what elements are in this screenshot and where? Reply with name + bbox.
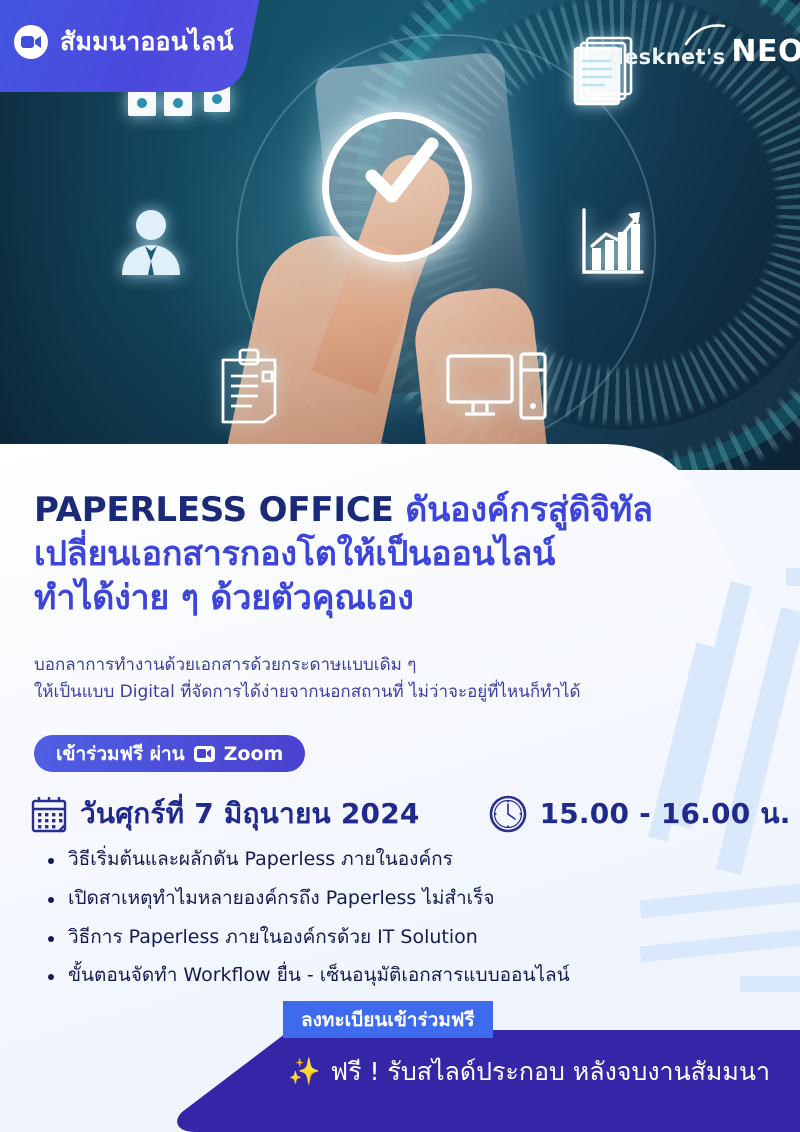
subtitle: บอกลาการทำงานด้วยเอกสารด้วยกระดาษแบบเดิม… bbox=[34, 652, 580, 706]
cta-offer: ✨ ฟรี ! รับสไลด์ประกอบ หลังจบงานสัมมนา bbox=[288, 1052, 770, 1092]
subtitle-line-1: บอกลาการทำงานด้วยเอกสารด้วยกระดาษแบบเดิม… bbox=[34, 652, 580, 679]
event-date: วันศุกร์ที่ 7 มิถุนายน 2024 bbox=[80, 792, 420, 836]
clock-icon bbox=[488, 794, 528, 834]
register-button[interactable]: ลงทะเบียนเข้าร่วมฟรี bbox=[283, 1001, 493, 1038]
datetime-row: วันศุกร์ที่ 7 มิถุนายน 2024 15.00 - bbox=[30, 792, 791, 836]
list-item: ขั้นตอนจัดทำ Workflow ยื่น - เซ็นอนุมัติ… bbox=[42, 964, 570, 988]
brand-swoosh-icon bbox=[684, 24, 726, 46]
checkmark-glyph bbox=[352, 126, 448, 222]
calendar-icon bbox=[30, 794, 68, 834]
brand-logo: desknet's NEO bbox=[609, 34, 800, 69]
zoom-badge-suffix: Zoom bbox=[224, 743, 284, 765]
register-button-label: ลงทะเบียนเข้าร่วมฟรี bbox=[301, 1005, 475, 1035]
sparkles-icon: ✨ bbox=[288, 1059, 320, 1085]
bar-chart-growth-icon bbox=[578, 204, 646, 280]
zoom-badge-prefix: เข้าร่วมฟรี ผ่าน bbox=[56, 739, 185, 769]
business-person-icon bbox=[118, 205, 184, 277]
headline-line-2: เปลี่ยนเอกสารกองโตให้เป็นออนไลน์ bbox=[34, 532, 734, 576]
subtitle-line-2: ให้เป็นแบบ Digital ที่จัดการได้ง่ายจากนอ… bbox=[34, 679, 580, 706]
zoom-join-badge[interactable]: เข้าร่วมฟรี ผ่าน Zoom bbox=[34, 735, 305, 772]
webinar-poster: สัมมนาออนไลน์ desknet's NEO PAPERLESS OF… bbox=[0, 0, 800, 1132]
time-item: 15.00 - 16.00 น. bbox=[488, 792, 791, 836]
cta-offer-text: ฟรี ! รับสไลด์ประกอบ หลังจบงานสัมมนา bbox=[330, 1052, 770, 1092]
list-item: วิธีเริ่มต้นและผลักดัน Paperless ภายในอง… bbox=[42, 848, 570, 872]
event-time: 15.00 - 16.00 น. bbox=[540, 792, 791, 836]
date-item: วันศุกร์ที่ 7 มิถุนายน 2024 bbox=[30, 792, 420, 836]
list-item: วิธีการ Paperless ภายในองค์กรด้วย IT Sol… bbox=[42, 926, 570, 950]
headline-line-3: ทำได้ง่าย ๆ ด้วยตัวคุณเอง bbox=[34, 576, 734, 620]
page-title: PAPERLESS OFFICE ดันองค์กรสู่ดิจิทัล เปล… bbox=[34, 488, 734, 621]
zoom-camera-icon bbox=[194, 746, 215, 762]
headline-thai-part: ดันองค์กรสู่ดิจิทัล bbox=[405, 490, 653, 530]
header-badge: สัมมนาออนไลน์ bbox=[14, 22, 234, 62]
header-badge-label: สัมมนาออนไลน์ bbox=[60, 22, 234, 62]
headline-english: PAPERLESS OFFICE bbox=[34, 490, 405, 530]
video-camera-icon bbox=[14, 25, 48, 59]
brand-name-primary: desknet's bbox=[609, 45, 726, 69]
agenda-list: วิธีเริ่มต้นและผลักดัน Paperless ภายในอง… bbox=[42, 848, 570, 1003]
zoom-camera-glyph bbox=[197, 749, 211, 758]
video-camera-glyph bbox=[21, 35, 41, 49]
brand-name-secondary: NEO bbox=[731, 34, 800, 69]
list-item: เปิดสาเหตุทำไมหลายองค์กรถึง Paperless ไม… bbox=[42, 887, 570, 911]
